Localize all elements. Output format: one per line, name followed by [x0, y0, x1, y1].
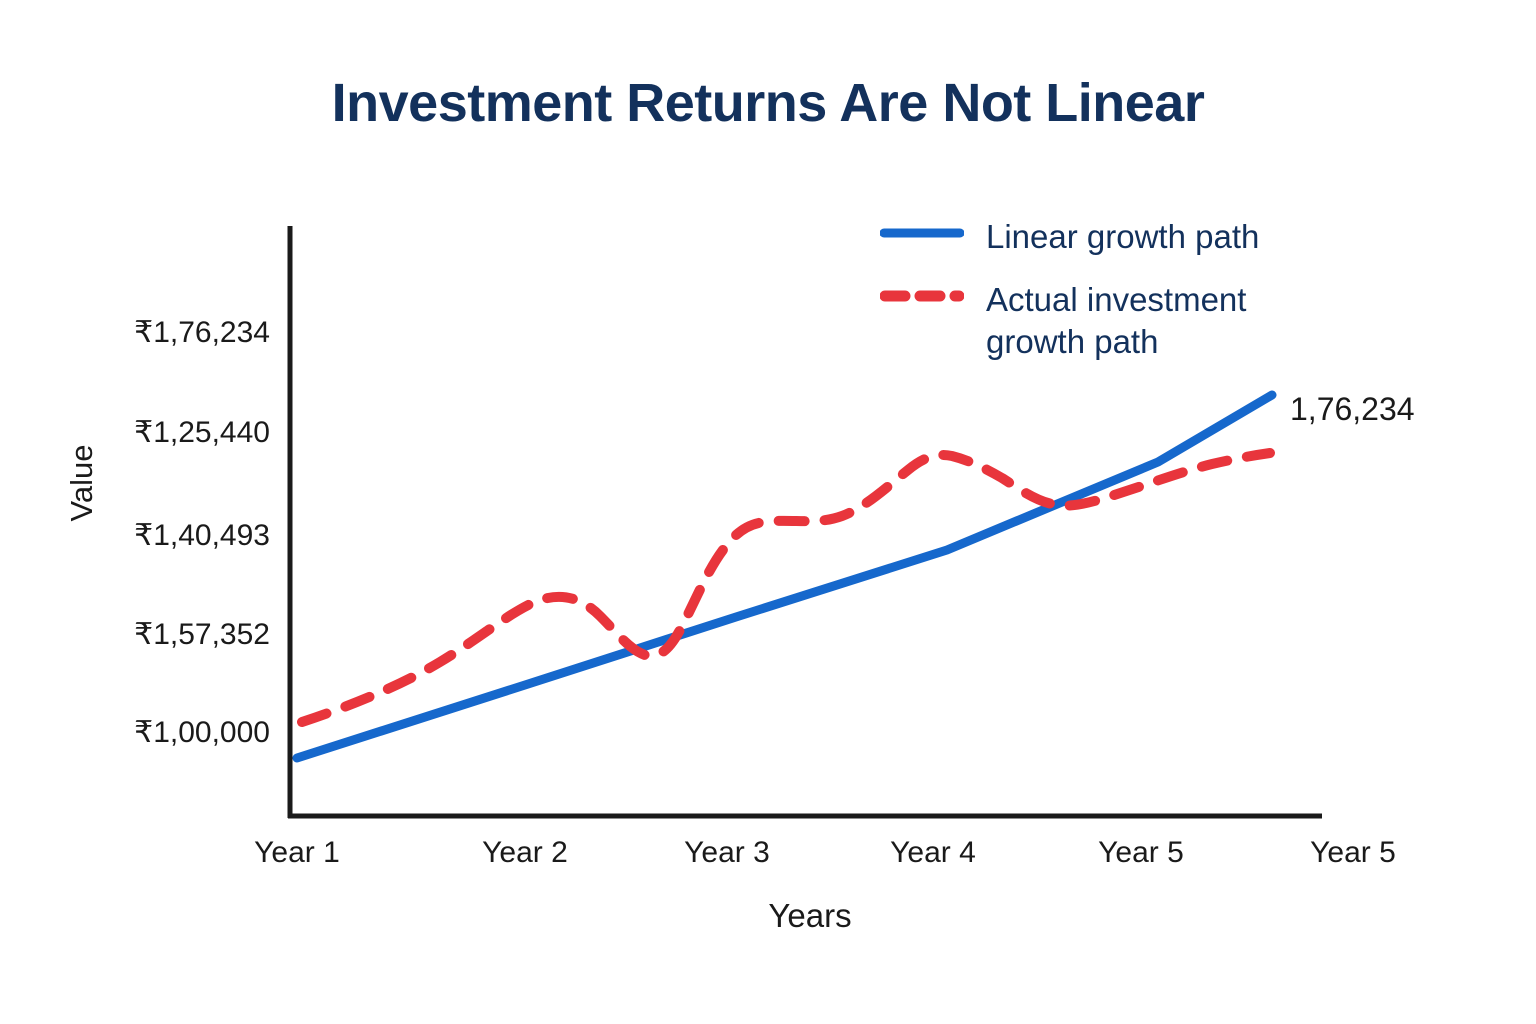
y-tick-label: ₹1,76,234 [60, 318, 270, 348]
chart-page: Investment Returns Are Not Linear ₹1,76,… [0, 0, 1536, 1024]
legend-swatch-dashed-line-icon [880, 279, 964, 313]
x-axis-title: Years [0, 897, 1536, 935]
series-actual-growth-path [302, 453, 1270, 722]
y-tick-label: ₹1,57,352 [60, 620, 270, 650]
legend-label: Linear growth path [986, 216, 1259, 257]
legend-label: Actual investment growth path [986, 279, 1316, 362]
legend-swatch-solid-line-icon [880, 216, 964, 250]
y-tick-label: ₹1,00,000 [60, 718, 270, 748]
series-end-annotation: 1,76,234 [1290, 391, 1415, 428]
series-linear-growth-path [297, 395, 1272, 758]
x-tick-label: Year 2 [420, 838, 630, 868]
chart-plot-area [0, 0, 1536, 1024]
legend-item-actual-growth-path[interactable]: Actual investment growth path [880, 279, 1340, 362]
x-tick-label: Year 1 [192, 838, 402, 868]
y-axis-title: Value [64, 398, 100, 568]
x-tick-label: Year 3 [622, 838, 832, 868]
legend-item-linear-growth-path[interactable]: Linear growth path [880, 216, 1340, 257]
x-tick-label: Year 5 [1036, 838, 1246, 868]
chart-legend: Linear growth path Actual investment gro… [880, 216, 1340, 384]
x-tick-label: Year 4 [828, 838, 1038, 868]
x-tick-label: Year 5 [1248, 838, 1458, 868]
